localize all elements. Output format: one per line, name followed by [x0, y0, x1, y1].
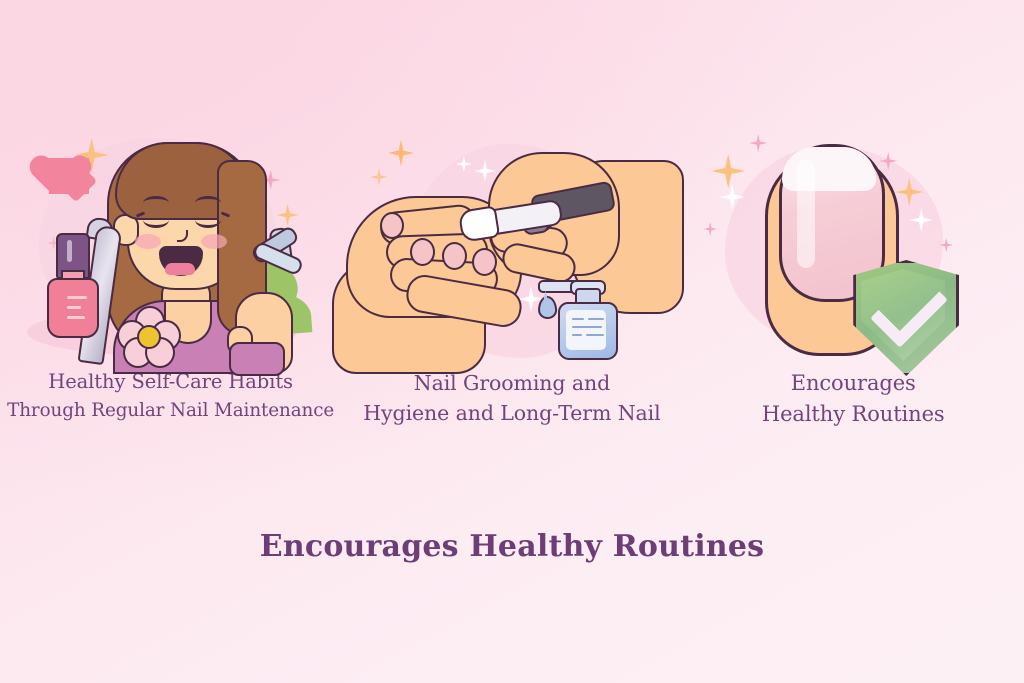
caption-grooming-hygiene: Nail Grooming and Hygiene and Long-Term …: [347, 368, 677, 429]
nail-highlight: [797, 160, 815, 268]
caption-healthy-routines: Encourages Healthy Routines: [688, 368, 1018, 430]
label-line: [572, 326, 602, 328]
tongue: [165, 263, 195, 275]
caption-line: Hygiene and Long-Term Nail: [347, 398, 677, 428]
polish-highlight: [67, 296, 87, 299]
sparkle-icon: [277, 204, 299, 226]
sparkle-icon: [388, 140, 414, 166]
column-healthy-routines: Encourages Healthy Routines: [683, 130, 1024, 490]
caption-line: Healthy Routines: [688, 399, 1018, 430]
fingernail: [442, 242, 467, 270]
polish-highlight: [67, 316, 85, 319]
polish-cap-highlight: [67, 240, 72, 262]
sparkle-icon: [749, 134, 767, 152]
columns-row: Healthy Self-Care Habits Through Regular…: [0, 130, 1024, 490]
heart-icon: [49, 158, 89, 194]
sparkle-icon: [370, 168, 388, 186]
soap-dispenser-label: [566, 310, 606, 350]
fingernail: [410, 238, 435, 266]
healthy-nail-shield-illustration: [703, 130, 1003, 362]
caption-line: Through Regular Nail Maintenance: [6, 397, 336, 424]
eyebrow-left: [143, 196, 169, 210]
eye-left: [143, 212, 169, 228]
sleeve: [229, 342, 285, 376]
column-grooming-hygiene: Nail Grooming and Hygiene and Long-Term …: [341, 130, 682, 490]
caption-self-care: Healthy Self-Care Habits Through Regular…: [6, 368, 336, 424]
label-line: [586, 334, 604, 336]
label-line: [588, 318, 604, 320]
polish-highlight: [67, 306, 81, 309]
label-line: [572, 318, 584, 320]
blush-right: [201, 234, 227, 249]
infographic-canvas: Healthy Self-Care Habits Through Regular…: [0, 0, 1024, 683]
fingernail: [380, 212, 404, 239]
fingernail: [472, 248, 497, 276]
flower-icon: [117, 306, 179, 364]
hands-clipping-nails-illustration: [362, 130, 662, 362]
caption-line: Encourages: [688, 368, 1018, 399]
woman-nail-care-illustration: [21, 130, 321, 362]
nail-clippers-head: [458, 205, 501, 243]
eyebrow-right: [195, 196, 221, 210]
column-self-care: Healthy Self-Care Habits Through Regular…: [0, 130, 341, 490]
label-line: [572, 334, 582, 336]
blush-left: [135, 234, 161, 249]
eye-right: [195, 212, 221, 228]
page-title: Encourages Healthy Routines: [0, 529, 1024, 564]
sparkle-icon: [703, 222, 717, 236]
sparkle-icon: [711, 154, 745, 188]
